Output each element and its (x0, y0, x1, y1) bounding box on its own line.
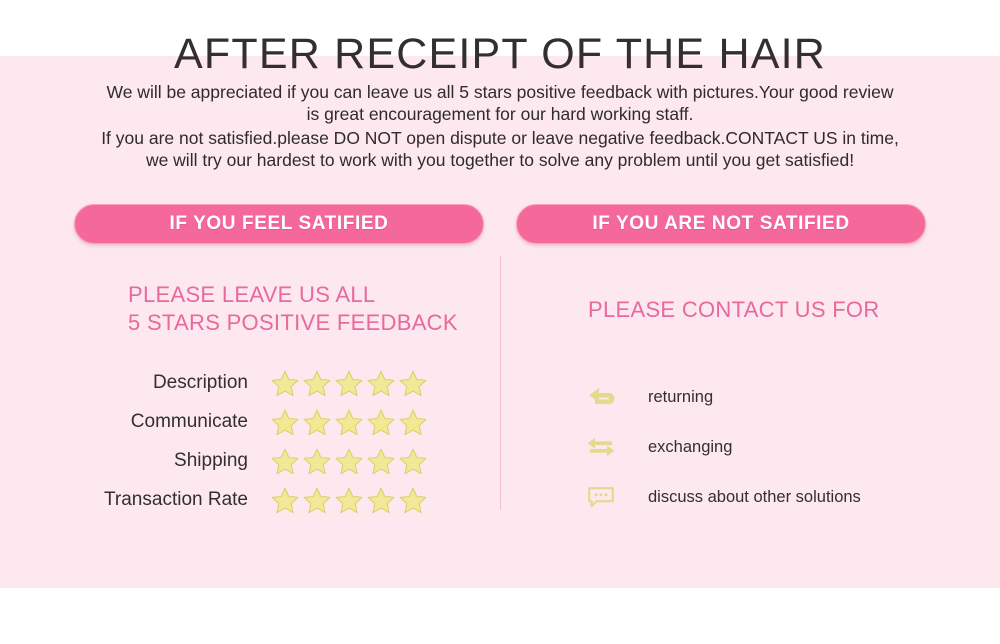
star-icon (302, 369, 332, 398)
intro-line-1: We will be appreciated if you can leave … (50, 82, 950, 104)
star-icon (334, 486, 364, 515)
star-icon (270, 486, 300, 515)
rating-list: Description Communicate Shipping Transac… (100, 366, 460, 522)
right-column-heading: PLEASE CONTACT US FOR (588, 296, 880, 324)
not-satisfied-pill-button[interactable]: IF YOU ARE NOT SATIFIED (516, 204, 926, 244)
star-icon (334, 408, 364, 437)
star-icon (398, 369, 428, 398)
star-icon (398, 408, 428, 437)
left-heading-line-2: 5 STARS POSITIVE FEEDBACK (128, 309, 458, 337)
rating-label-description: Description (100, 372, 270, 394)
star-icon (302, 408, 332, 437)
intro-paragraph: We will be appreciated if you can leave … (50, 82, 950, 171)
speech-bubble-icon (586, 485, 630, 509)
star-icon (334, 447, 364, 476)
star-icon (366, 408, 396, 437)
page-title: AFTER RECEIPT OF THE HAIR (0, 30, 1000, 79)
contact-label-discuss: discuss about other solutions (630, 488, 861, 507)
rating-label-shipping: Shipping (100, 450, 270, 472)
return-arrow-icon (586, 385, 630, 409)
star-icon (398, 486, 428, 515)
intro-line-4: we will try our hardest to work with you… (50, 150, 950, 172)
star-icon (366, 447, 396, 476)
promo-banner: AFTER RECEIPT OF THE HAIR We will be app… (0, 0, 1000, 644)
rating-row: Communicate (100, 405, 460, 439)
star-icon (398, 447, 428, 476)
star-icon (302, 486, 332, 515)
left-column-heading: PLEASE LEAVE US ALL 5 STARS POSITIVE FEE… (128, 281, 458, 337)
satisfied-pill-button[interactable]: IF YOU FEEL SATIFIED (74, 204, 484, 244)
left-heading-line-1: PLEASE LEAVE US ALL (128, 281, 458, 309)
list-item[interactable]: exchanging (586, 422, 946, 472)
star-icon (302, 447, 332, 476)
column-divider (500, 256, 501, 510)
list-item[interactable]: returning (586, 372, 946, 422)
exchange-arrows-icon (586, 435, 630, 459)
rating-label-communicate: Communicate (100, 411, 270, 433)
star-rating-transaction-rate (270, 486, 428, 515)
star-rating-description (270, 369, 428, 398)
rating-row: Shipping (100, 444, 460, 478)
star-rating-communicate (270, 408, 428, 437)
contact-options-list: returning exchanging discuss about o (586, 372, 946, 522)
star-icon (334, 369, 364, 398)
contact-label-returning: returning (630, 388, 713, 407)
star-icon (270, 408, 300, 437)
intro-line-3: If you are not satisfied.please DO NOT o… (50, 128, 950, 150)
star-rating-shipping (270, 447, 428, 476)
list-item[interactable]: discuss about other solutions (586, 472, 946, 522)
star-icon (270, 447, 300, 476)
rating-row: Description (100, 366, 460, 400)
rating-label-transaction-rate: Transaction Rate (100, 489, 270, 511)
intro-line-2: is great encouragement for our hard work… (50, 104, 950, 126)
star-icon (270, 369, 300, 398)
star-icon (366, 369, 396, 398)
rating-row: Transaction Rate (100, 483, 460, 517)
contact-label-exchanging: exchanging (630, 438, 732, 457)
star-icon (366, 486, 396, 515)
